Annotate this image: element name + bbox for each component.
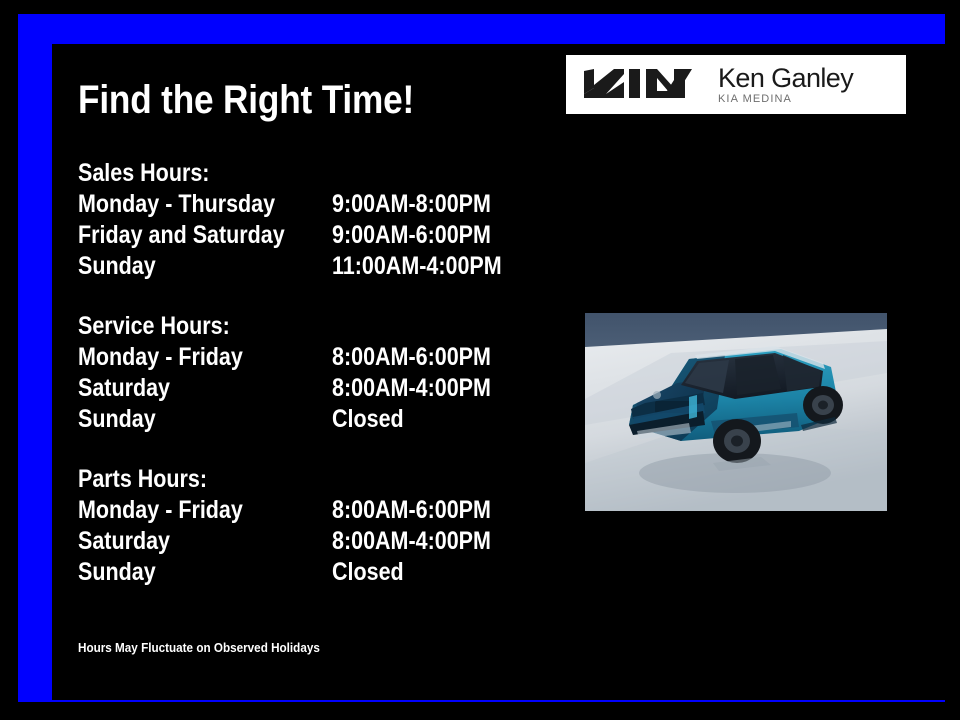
section-heading: Sales Hours:	[78, 158, 482, 189]
kia-ev9-suv-photo	[585, 313, 887, 511]
section-heading: Parts Hours:	[78, 464, 482, 495]
hours-row-time: 8:00AM-4:00PM	[332, 526, 491, 557]
hours-block-sales: Sales Hours: Monday - Thursday 9:00AM-8:…	[78, 158, 548, 282]
hours-block-service: Service Hours: Monday - Friday 8:00AM-6:…	[78, 311, 548, 435]
dealer-logo-plate: Ken Ganley KIA MEDINA	[566, 55, 906, 114]
hours-row-time: 9:00AM-6:00PM	[332, 220, 491, 251]
hours-row-time: 8:00AM-6:00PM	[332, 495, 491, 526]
hours-row-label: Friday and Saturday	[78, 220, 285, 251]
section-heading: Service Hours:	[78, 311, 482, 342]
kia-logo-icon	[576, 68, 700, 102]
hours-row: Saturday 8:00AM-4:00PM	[78, 526, 548, 557]
hours-row: Friday and Saturday 9:00AM-6:00PM	[78, 220, 548, 251]
hours-row-time: Closed	[332, 404, 404, 435]
hours-row-label: Sunday	[78, 557, 156, 588]
dealer-logo-text: Ken Ganley KIA MEDINA	[718, 64, 853, 106]
hours-row-label: Sunday	[78, 404, 156, 435]
hours-row-time: 8:00AM-6:00PM	[332, 342, 491, 373]
hours-row: Saturday 8:00AM-4:00PM	[78, 373, 548, 404]
hours-row-label: Monday - Friday	[78, 342, 243, 373]
hours-row-label: Saturday	[78, 526, 170, 557]
disclaimer-text: Hours May Fluctuate on Observed Holidays	[78, 640, 320, 656]
hours-row: Monday - Thursday 9:00AM-8:00PM	[78, 189, 548, 220]
hours-row: Monday - Friday 8:00AM-6:00PM	[78, 495, 548, 526]
hours-row-label: Monday - Thursday	[78, 189, 275, 220]
hours-sections: Sales Hours: Monday - Thursday 9:00AM-8:…	[78, 158, 548, 588]
hours-row: Sunday 11:00AM-4:00PM	[78, 251, 548, 282]
hours-row-time: Closed	[332, 557, 404, 588]
hours-row-time: 9:00AM-8:00PM	[332, 189, 491, 220]
hours-row: Monday - Friday 8:00AM-6:00PM	[78, 342, 548, 373]
hours-row-label: Sunday	[78, 251, 156, 282]
hours-row: Sunday Closed	[78, 557, 548, 588]
hours-row: Sunday Closed	[78, 404, 548, 435]
slide-root: Find the Right Time! Sales Hours: Monday…	[0, 0, 960, 720]
hours-row-time: 8:00AM-4:00PM	[332, 373, 491, 404]
dealer-name: Ken Ganley	[718, 64, 853, 92]
hours-row-label: Saturday	[78, 373, 170, 404]
hours-block-parts: Parts Hours: Monday - Friday 8:00AM-6:00…	[78, 464, 548, 588]
page-title: Find the Right Time!	[78, 78, 414, 122]
hours-row-label: Monday - Friday	[78, 495, 243, 526]
hours-row-time: 11:00AM-4:00PM	[332, 251, 502, 282]
dealer-sublabel: KIA MEDINA	[718, 93, 853, 106]
